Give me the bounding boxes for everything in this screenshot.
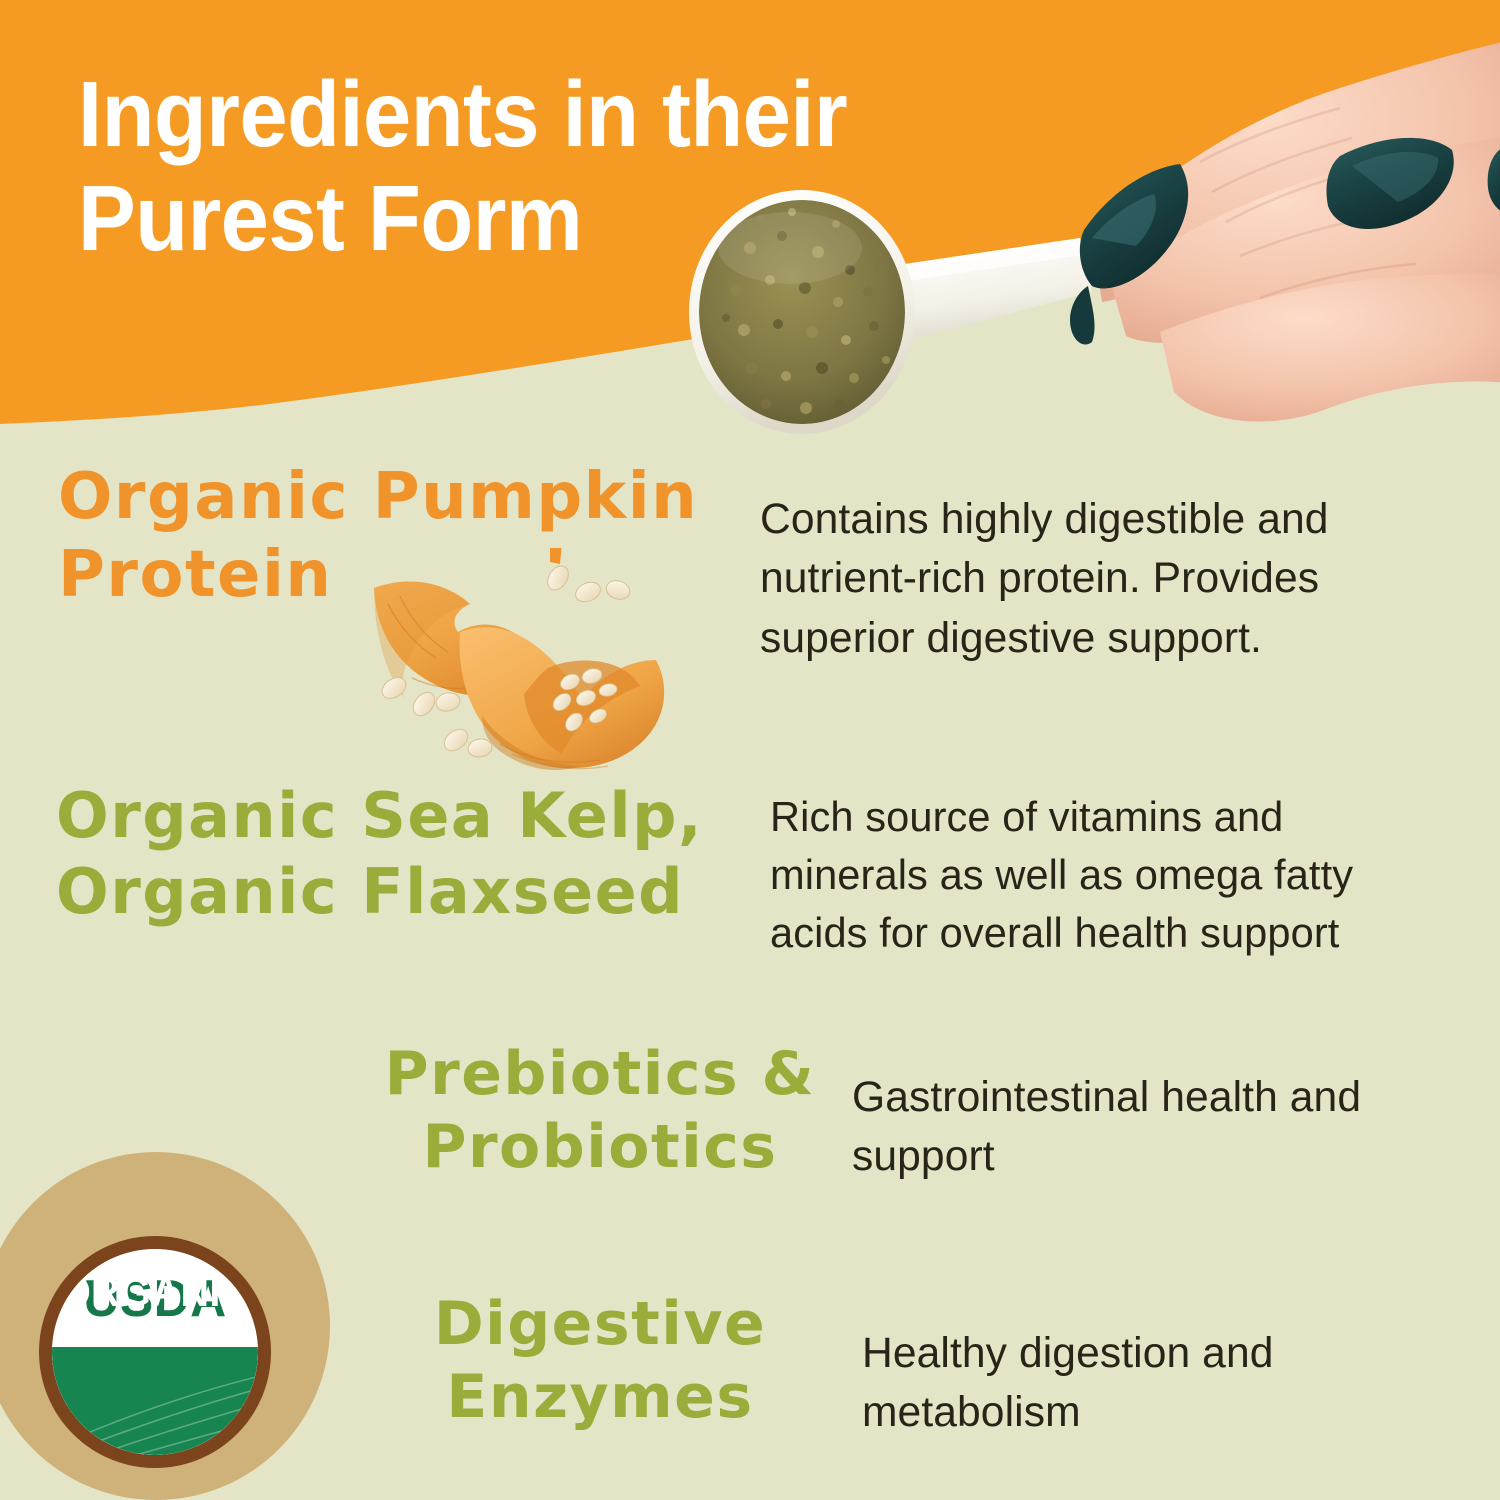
ingredient-heading-sea-kelp-flaxseed: Organic Sea Kelp, Organic Flaxseed: [56, 778, 786, 929]
ingredient-description-digestive-enzymes: Healthy digestion and metabolism: [862, 1324, 1476, 1443]
pumpkin-slices-icon: [352, 548, 692, 788]
usda-organic-seal: USDA ORGANIC: [0, 1152, 362, 1500]
page-title: Ingredients in their Purest Form: [78, 62, 989, 270]
ingredient-description-sea-kelp-flaxseed: Rich source of vitamins and minerals as …: [770, 788, 1473, 962]
seal-organic-text: ORGANIC: [58, 1271, 252, 1313]
infographic-page: Ingredients in their Purest Form: [0, 0, 1500, 1500]
seal-inner: USDA ORGANIC: [52, 1249, 258, 1455]
ingredient-heading-prebiotics-probiotics: Prebiotics & Probiotics: [340, 1038, 860, 1184]
ingredient-description-prebiotics-probiotics: Gastrointestinal health and support: [852, 1068, 1486, 1187]
seal-green-field: [52, 1347, 258, 1455]
ingredient-description-pumpkin-protein: Contains highly digestible and nutrient-…: [760, 490, 1453, 668]
seal-badge: USDA ORGANIC: [39, 1236, 271, 1468]
title-line-2: Purest Form: [78, 166, 989, 270]
ingredient-heading-digestive-enzymes: Digestive Enzymes: [360, 1288, 840, 1434]
seal-field-lines-icon: [52, 1347, 258, 1455]
pumpkin-stem: [550, 548, 562, 564]
title-line-1: Ingredients in their: [78, 62, 989, 166]
